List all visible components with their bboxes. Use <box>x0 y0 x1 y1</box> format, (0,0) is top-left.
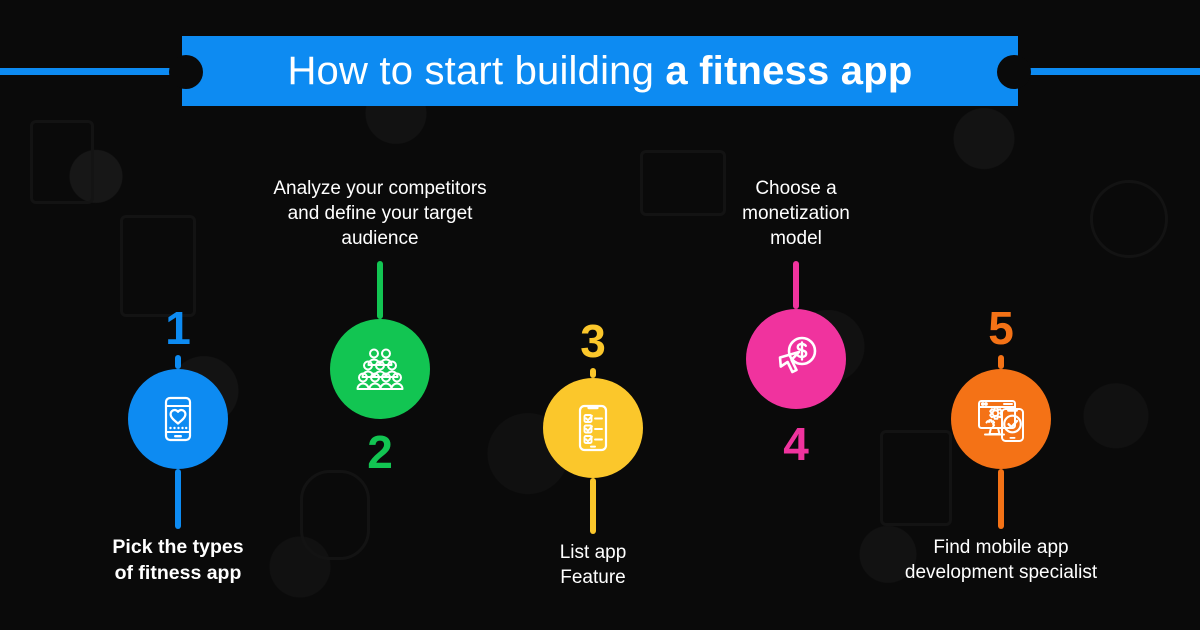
page-title: How to start building a fitness app <box>287 49 912 94</box>
page-title-regular: How to start building <box>287 49 665 93</box>
audience-group-icon <box>351 340 409 398</box>
step-icon-circle-1[interactable] <box>128 369 228 469</box>
phone-checklist-icon <box>565 400 621 456</box>
step-connector-1-top <box>175 355 181 369</box>
step-icon-circle-2[interactable] <box>330 319 430 419</box>
phone-heart-icon <box>150 391 206 447</box>
step-connector-5-bottom <box>998 469 1004 529</box>
title-banner: How to start building a fitness app <box>182 36 1018 106</box>
step-caption-1: Pick the types of fitness app <box>112 535 243 586</box>
step-2[interactable]: Analyze your competitors and define your… <box>265 176 495 475</box>
step-icon-circle-3[interactable] <box>543 378 643 478</box>
cursor-dollar-icon <box>767 330 825 388</box>
step-connector-4-top <box>793 261 799 309</box>
step-connector-1-bottom <box>175 469 181 529</box>
step-caption-4: Choose a monetization model <box>742 176 850 251</box>
header-notch-right <box>997 55 1031 89</box>
step-connector-3-top <box>590 368 596 378</box>
background-glyph <box>300 470 370 560</box>
page-title-accent: a fitness app <box>665 49 912 93</box>
step-number-5: 5 <box>988 305 1014 351</box>
step-caption-5: Find mobile app development specialist <box>871 535 1131 585</box>
step-5[interactable]: 5 <box>886 305 1116 585</box>
step-number-2: 2 <box>367 429 393 475</box>
background-glyph <box>30 120 94 204</box>
step-icon-circle-5[interactable] <box>951 369 1051 469</box>
step-number-3: 3 <box>580 318 606 364</box>
step-connector-5-top <box>998 355 1004 369</box>
app-development-icon <box>971 389 1031 449</box>
infographic-canvas: How to start building a fitness app 1 Pi… <box>0 0 1200 630</box>
step-caption-3: List app Feature <box>560 540 627 590</box>
step-connector-2-top <box>377 261 383 319</box>
step-number-4: 4 <box>783 421 809 467</box>
step-connector-3-bottom <box>590 478 596 534</box>
step-1[interactable]: 1 Pick the types of fitness app <box>63 305 293 586</box>
step-3[interactable]: 3 List app Feature <box>478 318 708 590</box>
step-caption-2: Analyze your competitors and define your… <box>273 176 486 251</box>
header-notch-left <box>169 55 203 89</box>
background-glyph <box>1090 180 1168 258</box>
step-icon-circle-4[interactable] <box>746 309 846 409</box>
step-number-1: 1 <box>165 305 191 351</box>
step-4[interactable]: Choose a monetization model 4 <box>681 176 911 467</box>
